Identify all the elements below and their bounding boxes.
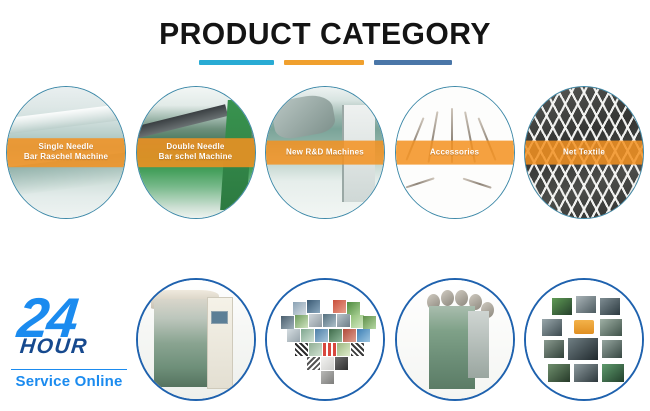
swatch-tile (321, 371, 334, 384)
category-label-banner: Single Needle Bar Raschel Machine (7, 138, 125, 168)
company-logo-icon (574, 320, 594, 334)
category-card-single-needle-bar-raschel-machine[interactable]: Single Needle Bar Raschel Machine (6, 86, 126, 219)
swatch-tile (343, 329, 356, 342)
page-title: PRODUCT CATEGORY (10, 18, 641, 49)
category-row: Single Needle Bar Raschel Machine Double… (0, 86, 650, 221)
category-label-line1: Net Textile (527, 147, 641, 158)
category-label-line2: Bar Raschel Machine (9, 153, 123, 164)
swatch-tile (329, 329, 342, 342)
collage-tile (602, 340, 622, 358)
service-badge-divider (11, 369, 127, 371)
swatch-tile (307, 357, 320, 370)
swatch-tile (309, 343, 322, 356)
category-thumbnail-circle[interactable]: Net Textile (524, 86, 644, 219)
collage-tile (576, 296, 596, 313)
collage-tile (552, 298, 572, 315)
service-badge-unit: HOUR (19, 336, 89, 357)
swatch-tile (337, 314, 350, 327)
swatch-tile (363, 316, 376, 329)
category-thumbnail-circle[interactable]: Accessories (395, 86, 515, 219)
machine-body-shape (154, 299, 207, 387)
collage-tile (542, 319, 562, 336)
category-thumbnail-circle[interactable]: New R&D Machines (265, 86, 385, 219)
category-label-line1: New R&D Machines (268, 147, 382, 158)
swatch-tile (323, 343, 336, 356)
gallery-thumbnail-circle[interactable] (136, 278, 256, 401)
swatch-tile (307, 300, 320, 313)
service-badge: 24 HOUR Service Online (6, 278, 126, 401)
collage-tile (574, 364, 598, 382)
category-thumbnail-circle[interactable]: Double Needle Bar schel Machine (136, 86, 256, 219)
collage-tile (568, 338, 598, 360)
spool-machine-photo (397, 280, 513, 399)
swatch-tile (337, 343, 350, 356)
swatch-tile (351, 343, 364, 356)
gallery-row: 24 HOUR Service Online (0, 278, 650, 403)
category-card-net-textile[interactable]: Net Textile (524, 86, 644, 219)
underline-rule-blue (374, 60, 452, 65)
swatch-tile (333, 300, 346, 313)
gallery-card-spool-machine[interactable] (395, 278, 515, 401)
collage-tile (548, 364, 570, 382)
swatch-tile (357, 329, 370, 342)
service-badge-mark: 24 HOUR (10, 292, 128, 368)
swatch-tile (315, 329, 328, 342)
gallery-thumbnail-circle[interactable] (524, 278, 644, 401)
category-label-banner: New R&D Machines (266, 140, 384, 165)
swatch-tile (323, 314, 336, 327)
collage-tile (600, 319, 622, 336)
swatch-tile (293, 302, 306, 315)
category-label-banner: Net Textile (525, 140, 643, 165)
header: PRODUCT CATEGORY (0, 0, 650, 65)
title-underline-rules (0, 60, 650, 65)
category-label-line1: Double Needle (139, 142, 253, 153)
gallery-card-warp-knitting-machine[interactable] (136, 278, 256, 401)
gallery-card-machine-grid-collage[interactable] (524, 278, 644, 401)
warp-knitting-machine-photo (138, 280, 254, 399)
category-card-double-needle-bar-raschel-machine[interactable]: Double Needle Bar schel Machine (136, 86, 256, 219)
control-screen-shape (211, 311, 228, 324)
service-badge-subtitle: Service Online (15, 374, 122, 389)
category-card-new-rd-machines[interactable]: New R&D Machines (265, 86, 385, 219)
swatch-tile (321, 357, 334, 370)
gallery-thumbnail-circle[interactable] (265, 278, 385, 401)
category-label-line1: Accessories (398, 147, 512, 158)
category-label-line2: Bar schel Machine (139, 153, 253, 164)
needle-shape (406, 177, 435, 189)
spool-shape (441, 290, 454, 306)
underline-rule-orange (284, 60, 364, 65)
machine-side-panel-shape (468, 311, 489, 378)
gallery-card-fabric-swatch-heart[interactable] (265, 278, 385, 401)
category-label-banner: Accessories (396, 140, 514, 165)
swatch-tile (309, 314, 322, 327)
category-thumbnail-circle[interactable]: Single Needle Bar Raschel Machine (6, 86, 126, 219)
swatch-tile (287, 329, 300, 342)
category-label-line1: Single Needle (9, 142, 123, 153)
swatch-tile (295, 315, 308, 328)
swatch-tile (301, 329, 314, 342)
swatch-tile (335, 357, 348, 370)
needle-shape (462, 177, 491, 189)
category-label-banner: Double Needle Bar schel Machine (137, 138, 255, 168)
machine-grid-collage-photo (526, 280, 642, 399)
spool-shape (455, 290, 468, 306)
collage-tile (544, 340, 564, 358)
underline-rule-cyan (199, 60, 274, 65)
swatch-tile (281, 316, 294, 329)
fabric-swatch-heart-collage-photo (267, 280, 383, 399)
swatch-tile (295, 343, 308, 356)
collage-tile (602, 364, 624, 382)
gallery-thumbnail-circle[interactable] (395, 278, 515, 401)
category-card-accessories[interactable]: Accessories (395, 86, 515, 219)
collage-tile (600, 298, 620, 315)
